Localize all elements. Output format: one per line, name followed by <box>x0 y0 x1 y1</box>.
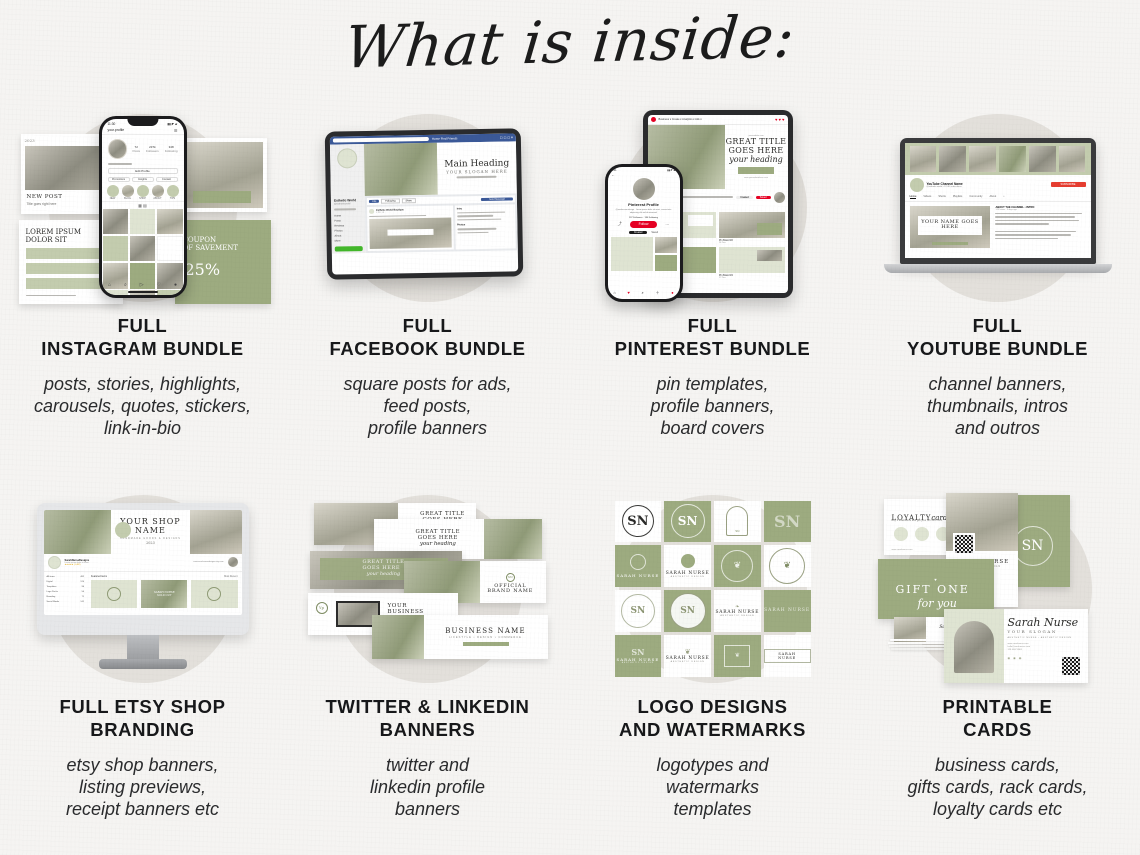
card-script-name: Sarah Nurse <box>1008 617 1082 628</box>
search-icon[interactable]: ⌕ <box>642 290 644 296</box>
etsy-banner-sub: HANDMADE GOODS & DESIGNS <box>120 537 181 540</box>
qr-code <box>953 533 975 555</box>
youtube-laptop-mockup: YouTube Channel Name @esthetic-world • 1… <box>900 138 1096 264</box>
edit-profile-button[interactable]: Edit Profile <box>108 168 178 174</box>
yt-video-title: YOUR NAME GOES HERE <box>918 220 983 231</box>
content-grid: 2023 NEW POST Title goes right here LORE… <box>0 100 1140 820</box>
logo-tile: SN <box>714 501 761 543</box>
pinterest-phone-mockup: 9:41▮▮ ◤ ▰ ← Pinterest Profile @sarahnur… <box>605 164 683 302</box>
follow-button[interactable]: Follow <box>630 221 658 228</box>
mockup-twitter-linkedin: GREAT TITLEGOES HERE your heading GREAT … <box>285 481 570 696</box>
card-youtube[interactable]: YouTube Channel Name @esthetic-world • 1… <box>855 100 1140 439</box>
card-printables[interactable]: LOYALTYcard Buy 5 treatments and get you… <box>855 481 1140 820</box>
logo-tile: SARAH NURSE <box>764 635 811 677</box>
yt-subscribers: @esthetic-world • 12.4K subscribers <box>927 186 963 188</box>
card-facebook[interactable]: Home Find Friends ◻ ◻ ◻ ▾ <box>285 100 570 439</box>
card-subtitle: square posts for ads, feed posts, profil… <box>295 373 560 439</box>
card-titles-youtube: FULL YOUTUBE BUNDLE channel banners, thu… <box>855 315 1140 439</box>
home-icon[interactable]: ⌂ <box>613 290 615 296</box>
avatar[interactable]: ● <box>174 282 177 288</box>
facebook-tablet-mockup: Home Find Friends ◻ ◻ ◻ ▾ <box>324 128 523 279</box>
add-icon[interactable]: ＋ <box>656 290 660 296</box>
fb-cover-slogan: YOUR SLOGAN HERE <box>446 168 508 174</box>
fb-cover-heading: Main Heading <box>444 158 509 169</box>
card-titles-etsy: FULL ETSY SHOP BRANDING etsy shop banner… <box>0 696 285 820</box>
card-title: PRINTABLE CARDS <box>865 696 1130 741</box>
card-services: AESTHETIC NURSE • AESTHETIC DESIGN <box>1008 637 1082 639</box>
page-title: What is inside: <box>0 0 1140 90</box>
imac-foot <box>99 659 187 669</box>
pin-title: GREAT TITLE GOES HERE <box>725 137 788 155</box>
card-subtitle: etsy shop banners, listing previews, rec… <box>10 754 275 820</box>
grid-row-1: 2023 NEW POST Title goes right here LORE… <box>0 100 1140 439</box>
mockup-pinterest: Business ▾ Create ▾ Analytics ▾ Ads ▾ ♥ … <box>570 100 855 315</box>
heart-icon[interactable]: ♡ <box>157 282 161 288</box>
logo-tile: SARAH NURSE <box>764 590 811 632</box>
card-title: FULL FACEBOOK BUNDLE <box>295 315 560 360</box>
card-etsy[interactable]: YOUR SHOP NAME HANDMADE GOODS & DESIGNS … <box>0 481 285 820</box>
logo-tile: SN <box>664 590 711 632</box>
post-card-right-top <box>179 138 267 212</box>
business-card-front: Sarah Nurse YOUR SLOGAN AESTHETIC NURSE … <box>944 609 1088 683</box>
gift-title: GIFT ONE <box>896 583 970 596</box>
instagram-handle: your.profile <box>108 128 125 132</box>
yt-channel-name: YouTube Channel Name <box>927 182 963 186</box>
card-script-sub: YOUR SLOGAN <box>1008 629 1082 634</box>
instagram-phone-mockup: 11:30 ▮▮ ◤ ▰ your.profile ☰ 72Posts <box>99 116 187 298</box>
social-icon: ◉ <box>1019 656 1022 660</box>
card-titles-twitter-linkedin: TWITTER & LINKEDIN BANNERS twitter and l… <box>285 696 570 820</box>
logo-tile: ❦ <box>714 545 761 587</box>
logo-tile: SN <box>664 501 711 543</box>
card-title: TWITTER & LINKEDIN BANNERS <box>295 696 560 741</box>
logo-tile: SN <box>764 501 811 543</box>
logo-tile: SN SARAH NURSE AESTHETIC DESIGN <box>615 635 662 677</box>
search-icon[interactable]: ⌕ <box>124 282 127 288</box>
card-subtitle: pin templates, profile banners, board co… <box>580 373 845 439</box>
banner-6: BUSINESS NAME LIFESTYLE • DESIGN • COMME… <box>372 615 548 659</box>
card-titles-pinterest: FULL PINTEREST BUNDLE pin templates, pro… <box>570 315 855 439</box>
mockup-instagram: 2023 NEW POST Title goes right here LORE… <box>0 100 285 315</box>
reels-icon[interactable]: ▷ <box>140 282 144 288</box>
etsy-sort-label: Most Recent <box>224 575 237 578</box>
mockup-logos: SN SN SN <box>570 481 855 696</box>
card-title: FULL ETSY SHOP BRANDING <box>10 696 275 741</box>
logo-tile: SN <box>615 590 662 632</box>
card-instagram[interactable]: 2023 NEW POST Title goes right here LORE… <box>0 100 285 439</box>
logo-tile: ❦ <box>764 545 811 587</box>
logo-tile: SARAH NURSE <box>615 545 662 587</box>
more-icon[interactable]: ··· <box>665 222 669 227</box>
home-icon[interactable]: ⌂ <box>108 282 111 288</box>
mockup-printables: LOYALTYcard Buy 5 treatments and get you… <box>855 481 1140 696</box>
card-titles-printables: PRINTABLE CARDS business cards, gifts ca… <box>855 696 1140 820</box>
imac-neck <box>127 635 159 661</box>
card-titles-instagram: FULL INSTAGRAM BUNDLE posts, stories, hi… <box>0 315 285 439</box>
card-subtitle: logotypes and watermarks templates <box>580 754 845 820</box>
card-subtitle: channel banners, thumbnails, intros and … <box>865 373 1130 439</box>
logo-tile: SARAH NURSE AESTHETIC DESIGN <box>664 545 711 587</box>
mockup-facebook: Home Find Friends ◻ ◻ ◻ ▾ <box>285 100 570 315</box>
card-title: FULL INSTAGRAM BUNDLE <box>10 315 275 360</box>
post-card-coupon: COUPONOF SAVEMENT 25% <box>175 220 271 304</box>
laptop-base <box>884 264 1112 273</box>
etsy-section-label: Featured items <box>91 575 107 578</box>
logo-tile: ❦ <box>714 635 761 677</box>
card-twitter-linkedin[interactable]: GREAT TITLEGOES HERE your heading GREAT … <box>285 481 570 820</box>
share-icon[interactable]: ⤴ <box>618 221 622 227</box>
card-pinterest[interactable]: Business ▾ Create ▾ Analytics ▾ Ads ▾ ♥ … <box>570 100 855 439</box>
phone-status-time: 11:30 <box>108 122 116 126</box>
card-title: FULL PINTEREST BUNDLE <box>580 315 845 360</box>
card-subtitle: business cards, gifts cards, rack cards,… <box>865 754 1130 820</box>
mockup-etsy: YOUR SHOP NAME HANDMADE GOODS & DESIGNS … <box>0 481 285 696</box>
card-subtitle: posts, stories, highlights, carousels, q… <box>10 373 275 439</box>
qr-code <box>1062 657 1080 675</box>
card-subtitle: twitter and linkedin profile banners <box>295 754 560 820</box>
etsy-banner-est: 2023 <box>146 541 155 545</box>
social-icon: ◉ <box>1013 656 1016 660</box>
mockup-youtube: YouTube Channel Name @esthetic-world • 1… <box>855 100 1140 315</box>
pin-script: your heading <box>729 155 782 164</box>
logo-tile: ❧ SARAH NURSE AESTHETIC DESIGN <box>714 590 761 632</box>
card-titles-facebook: FULL FACEBOOK BUNDLE square posts for ad… <box>285 315 570 439</box>
card-titles-logos: LOGO DESIGNS AND WATERMARKS logotypes an… <box>570 696 855 820</box>
logo-tile: ❦ SARAH NURSE AESTHETIC DESIGN <box>664 635 711 677</box>
card-title: LOGO DESIGNS AND WATERMARKS <box>580 696 845 741</box>
social-icon: ◉ <box>1008 656 1011 660</box>
card-title: FULL YOUTUBE BUNDLE <box>865 315 1130 360</box>
logo-grid: SN SN SN <box>615 501 811 677</box>
heart-icon[interactable]: ♥ <box>627 290 629 296</box>
logo-tile: SN <box>615 501 662 543</box>
subscribe-button[interactable]: SUBSCRIBE <box>1051 182 1086 187</box>
grid-row-2: YOUR SHOP NAME HANDMADE GOODS & DESIGNS … <box>0 481 1140 820</box>
card-logos[interactable]: SN SN SN <box>570 481 855 820</box>
avatar[interactable]: ● <box>671 290 673 296</box>
etsy-imac-mockup: YOUR SHOP NAME HANDMADE GOODS & DESIGNS … <box>37 503 249 635</box>
